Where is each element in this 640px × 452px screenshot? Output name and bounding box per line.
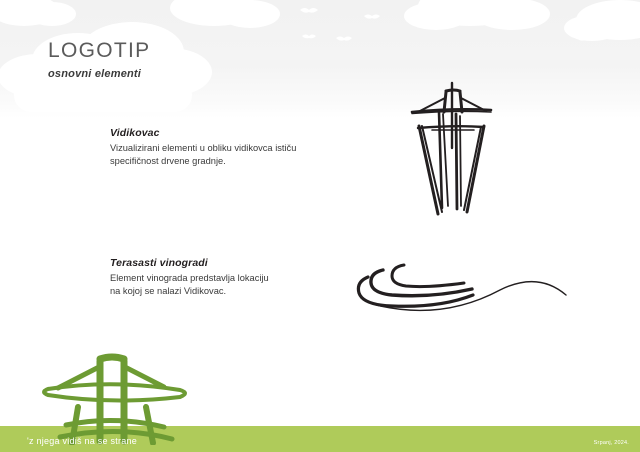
- terraced-vineyard-sketch: [352, 243, 582, 328]
- page-title-block: LOGOTIP osnovni elementi: [48, 40, 150, 80]
- page-subtitle: osnovni elementi: [48, 68, 150, 80]
- slide-canvas: LOGOTIP osnovni elementi Vidikovac Vizua…: [0, 0, 640, 452]
- section-heading: Terasasti vinogradi: [110, 257, 269, 269]
- section-body-line-1: Element vinograda predstavlja lokaciju: [110, 272, 269, 285]
- footer-date: Srpanj, 2024.: [594, 440, 629, 446]
- section-heading: Vidikovac: [110, 127, 296, 139]
- footer-tagline: 'z njega vidiš na se strane: [27, 436, 137, 446]
- section-terasasti-vinogradi: Terasasti vinogradi Element vinograda pr…: [110, 257, 269, 298]
- section-body-line-1: Vizualizirani elementi u obliku vidikovc…: [110, 142, 296, 155]
- vidikovac-logo: [14, 345, 214, 450]
- section-body-line-2: specifičnost drvene gradnje.: [110, 155, 296, 168]
- section-vidikovac: Vidikovac Vizualizirani elementi u oblik…: [110, 127, 296, 168]
- section-body-line-2: na kojoj se nalazi Vidikovac.: [110, 285, 269, 298]
- page-title: LOGOTIP: [48, 40, 150, 61]
- lookout-tower-sketch: [398, 78, 518, 223]
